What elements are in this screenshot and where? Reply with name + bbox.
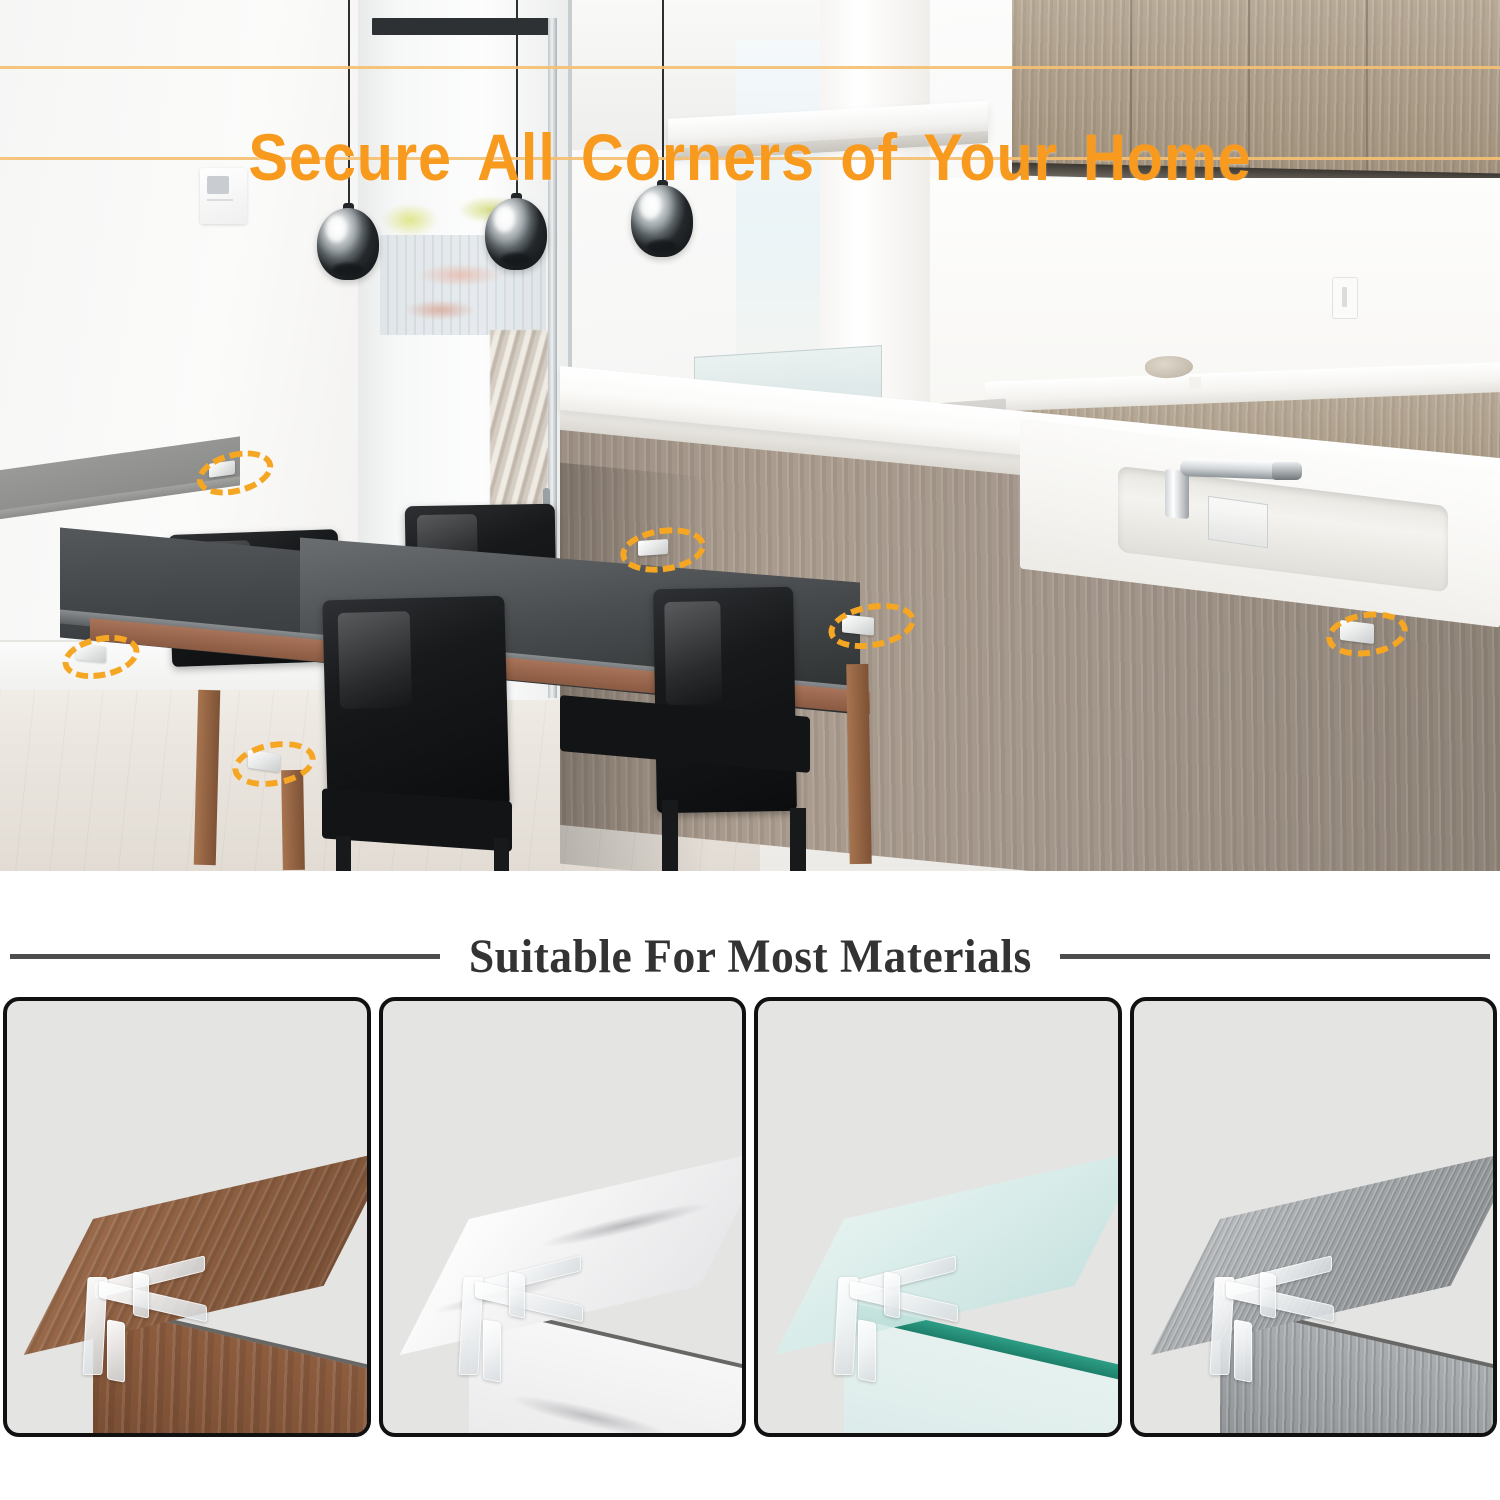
hero-title-word-3: Corners (581, 119, 815, 195)
hero-title-word-1: Secure (248, 119, 452, 195)
material-card-marble[interactable] (379, 997, 747, 1437)
hero-title: Secure All Corners of Your Home (75, 110, 1425, 204)
dining-table-leg-1 (194, 690, 221, 866)
material-cards-row (3, 997, 1497, 1437)
material-card-glass[interactable] (754, 997, 1122, 1437)
hero-title-word-2: All (477, 119, 556, 195)
door-header-bar (372, 18, 554, 35)
section-rule-right (1060, 954, 1490, 959)
protector-side-glass (858, 1319, 876, 1382)
dining-chair-leg-3b (494, 838, 509, 871)
hero-title-word-5: Your (923, 119, 1058, 195)
sink-splash-guard (1208, 496, 1268, 548)
power-outlet (1333, 278, 1357, 318)
material-card-stainless-steel[interactable] (1130, 997, 1498, 1437)
protector-side-wood (107, 1319, 125, 1382)
pendant-lamp-2 (485, 198, 547, 270)
dining-chair-leg-3a (336, 836, 351, 871)
protector-front-arm-wood (99, 1281, 207, 1323)
hero-banner: Secure All Corners of Your Home (0, 0, 1500, 871)
material-card-wood[interactable] (3, 997, 371, 1437)
protector-front-arm-glass (850, 1281, 958, 1323)
corner-protector-marble (453, 1259, 623, 1437)
protector-side-steel (1234, 1319, 1252, 1382)
chair-highlight-4 (664, 602, 722, 706)
protector-front-arm-marble (475, 1281, 583, 1323)
materials-section: Suitable For Most Materials (0, 871, 1500, 1500)
faucet-base (1165, 469, 1189, 519)
corner-protector-wood (77, 1259, 247, 1437)
protector-notch-marble (509, 1271, 525, 1318)
dining-table-leg-2 (281, 770, 305, 870)
protector-notch-steel (1260, 1271, 1276, 1318)
hero-title-word-4: of (840, 119, 898, 195)
chair-highlight-3 (337, 611, 412, 709)
dining-chair-back-3 (322, 596, 509, 811)
title-rule-top (0, 66, 1500, 69)
corner-protector-glass (828, 1259, 998, 1437)
pendant-lamp-1 (317, 208, 379, 280)
materials-section-header: Suitable For Most Materials (0, 921, 1500, 991)
dining-chair-leg-4b (790, 808, 806, 871)
section-title: Suitable For Most Materials (455, 929, 1045, 984)
faucet-head (1272, 462, 1302, 480)
counter-cup (1189, 377, 1201, 388)
protector-side-marble (483, 1319, 501, 1382)
dining-chair-leg-4a (662, 800, 678, 871)
protector-notch-wood (133, 1271, 149, 1318)
protector-notch-glass (884, 1271, 900, 1318)
hero-title-word-6: Home (1083, 119, 1252, 195)
protector-front-arm-steel (1226, 1281, 1334, 1323)
dining-table-leg-3 (846, 664, 871, 864)
corner-protector-steel (1204, 1259, 1374, 1437)
dining-chair-back-4 (653, 587, 797, 813)
section-rule-left (10, 954, 440, 959)
